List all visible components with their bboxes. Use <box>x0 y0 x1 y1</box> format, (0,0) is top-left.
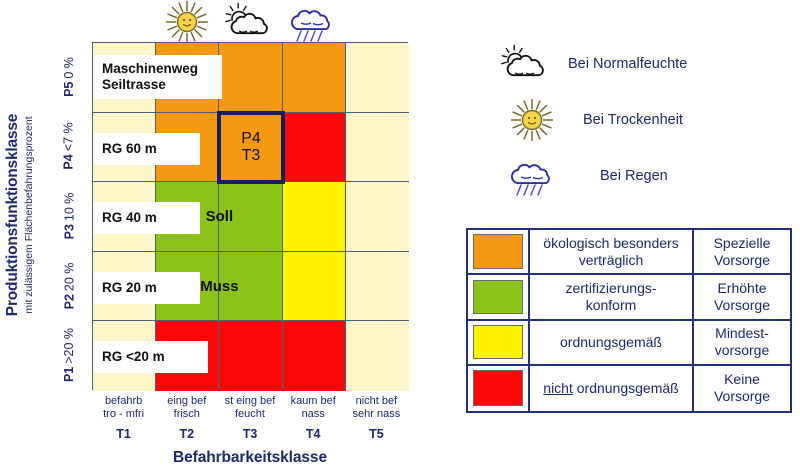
y-tick-code: P5 <box>62 81 76 96</box>
row-label-line1: RG <20 m <box>102 349 165 365</box>
matrix-cell-P5-T5 <box>346 43 409 113</box>
row-label-box-P4: RG 60 m <box>94 133 200 165</box>
color-legend-desc-line2: verträglich <box>579 252 644 268</box>
y-tick-code: P1 <box>62 367 76 382</box>
row-label-line2: Seiltrasse <box>102 77 166 93</box>
y-tick-P3: 10 %P3 <box>38 205 100 227</box>
row-label-line1: RG 40 m <box>102 210 157 226</box>
row-label-line1: RG 60 m <box>102 141 157 157</box>
y-axis-subtitle: mit zulässigem Flächenbefahrungsprozent <box>23 116 35 313</box>
highlight-line1: P4 <box>241 130 261 147</box>
x-tick-desc-line1: st eing bef <box>218 395 281 408</box>
weather-legend-row-2: Bei Regen <box>500 152 790 208</box>
x-tick-T4: kaum befnassT4 <box>282 395 345 441</box>
color-legend-description: nicht ordnungsgemäß <box>530 366 694 411</box>
color-swatch <box>473 280 523 315</box>
color-legend-row-0: ökologisch besondersverträglichSpezielle… <box>468 230 790 275</box>
x-tick-T1: befahrbtro - mfriT1 <box>92 395 155 441</box>
care-line1: Erhöhte <box>714 280 770 297</box>
color-legend-row-2: ordnungsgemäßMindest-vorsorge <box>468 321 790 366</box>
highlighted-cell-p4-t3[interactable]: P4T3 <box>217 111 284 185</box>
color-legend-description: ordnungsgemäß <box>530 321 694 364</box>
x-tick-desc-line1: eing bef <box>155 395 218 408</box>
row-label-line1: RG 20 m <box>102 280 157 296</box>
x-tick-desc-line1: nicht bef <box>345 395 408 408</box>
matrix-cell-P5-T3 <box>219 43 282 113</box>
weather-legend-row-0: Bei Normalfeuchte <box>500 40 790 96</box>
highlight-line2: T3 <box>242 147 261 164</box>
color-legend-swatch-cell <box>468 366 530 411</box>
row-label-line1: Maschinenweg <box>102 61 198 77</box>
sun-icon <box>165 0 209 44</box>
care-line2: Vorsorge <box>714 252 771 269</box>
weather-legend-label: Bei Regen <box>600 168 668 184</box>
color-legend-desc-line1: ordnungsgemäß <box>560 334 662 350</box>
color-legend-desc-line1: ordnungsgemäß <box>573 380 679 396</box>
color-swatch <box>473 234 523 269</box>
weather-legend: Bei Normalfeuchte Bei Trockenheit Bei Re… <box>500 40 790 208</box>
column-sun-behind-cloud-icon-T3 <box>224 2 276 44</box>
x-tick-code: T2 <box>155 427 218 441</box>
care-line1: Mindest- <box>715 325 769 342</box>
matrix-cell-P3-T4 <box>283 182 346 252</box>
row-label-box-P3: RG 40 m <box>94 202 200 234</box>
care-line2: Vorsorge <box>714 388 770 405</box>
x-tick-T3: st eing beffeuchtT3 <box>218 395 281 441</box>
sun-behind-cloud-icon <box>500 44 552 81</box>
x-tick-desc-line1: kaum bef <box>282 395 345 408</box>
x-tick-desc-line2: frisch <box>155 408 218 421</box>
y-tick-P4: <7 %P4 <box>38 135 100 157</box>
diagram-root: Produktionsfunktionsklasse mit zulässige… <box>0 0 800 475</box>
color-legend-description: zertifizierungs-konform <box>530 275 694 318</box>
x-tick-code: T4 <box>282 427 345 441</box>
x-tick-code: T1 <box>92 427 155 441</box>
color-legend-care-level: ErhöhteVorsorge <box>694 275 790 318</box>
color-legend-desc-line1: ökologisch besonders <box>543 235 678 251</box>
trafficability-matrix: SollMussMaschinenwegSeiltrasseRG 60 mRG … <box>92 42 408 390</box>
x-tick-desc-line2: feucht <box>218 408 281 421</box>
y-tick-code: P4 <box>62 155 76 170</box>
weather-legend-label: Bei Normalfeuchte <box>568 56 687 72</box>
x-tick-T5: nicht befsehr nassT5 <box>345 395 408 441</box>
matrix-cell-P4-T4 <box>283 113 346 183</box>
color-legend-row-3: nicht ordnungsgemäßKeineVorsorge <box>468 366 790 411</box>
weather-legend-row-1: Bei Trockenheit <box>500 96 790 152</box>
color-legend-description: ökologisch besondersverträglich <box>530 230 694 273</box>
color-legend-desc-line1: zertifizierungs- <box>565 280 656 296</box>
x-tick-code: T5 <box>345 427 408 441</box>
y-tick-percent: 10 % <box>62 193 76 222</box>
color-legend-swatch-cell <box>468 230 530 273</box>
color-legend-care-level: KeineVorsorge <box>694 366 790 411</box>
row-label-box-P5: MaschinenwegSeiltrasse <box>94 55 222 99</box>
matrix-cell-P1-T3 <box>219 321 282 391</box>
color-legend-swatch-cell <box>468 321 530 364</box>
sun-behind-cloud-icon <box>224 2 276 39</box>
matrix-cell-P3-T5 <box>346 182 409 252</box>
row-label-box-P1: RG <20 m <box>94 341 208 373</box>
color-legend-desc-line2: konform <box>586 297 637 313</box>
weather-legend-label: Bei Trockenheit <box>583 112 683 128</box>
y-tick-percent: 20 % <box>62 262 76 291</box>
rain-cloud-icon <box>508 156 558 197</box>
color-legend-care-level: SpezielleVorsorge <box>694 230 790 273</box>
color-swatch <box>473 325 523 360</box>
matrix-cell-P5-T4 <box>283 43 346 113</box>
matrix-cell-P4-T5 <box>346 113 409 183</box>
y-tick-percent: >20 % <box>62 328 76 364</box>
matrix-cell-P2-T4 <box>283 252 346 322</box>
rain-cloud-icon <box>288 2 338 43</box>
color-legend-swatch-cell <box>468 275 530 318</box>
legend-rain-cloud-icon <box>508 156 558 202</box>
color-legend-desc-prefix: nicht <box>543 380 573 396</box>
care-line2: Vorsorge <box>714 297 770 314</box>
x-tick-desc-line2: nass <box>282 408 345 421</box>
sun-icon <box>510 98 554 142</box>
legend-sun-icon <box>510 98 554 147</box>
color-legend-row-1: zertifizierungs-konformErhöhteVorsorge <box>468 275 790 320</box>
x-tick-code: T3 <box>218 427 281 441</box>
matrix-cell-P2-T5 <box>346 252 409 322</box>
legend-sun-behind-cloud-icon <box>500 44 552 86</box>
x-tick-T2: eing beffrischT2 <box>155 395 218 441</box>
x-tick-desc-line1: befahrb <box>92 395 155 408</box>
x-tick-desc-line2: sehr nass <box>345 408 408 421</box>
color-legend-care-level: Mindest-vorsorge <box>694 321 790 364</box>
x-tick-desc-line2: tro - mfri <box>92 408 155 421</box>
matrix-cell-P1-T4 <box>283 321 346 391</box>
color-swatch <box>473 370 523 406</box>
row-label-box-P2: RG 20 m <box>94 272 200 304</box>
x-axis-title: Befahrbarkeitsklasse <box>92 449 408 467</box>
care-line2: vorsorge <box>715 342 769 359</box>
y-axis-title: Produktionsfunktionsklasse <box>4 114 21 316</box>
y-tick-code: P3 <box>62 224 76 239</box>
y-tick-P1: >20 %P1 <box>38 344 100 366</box>
y-tick-code: P2 <box>62 294 76 309</box>
y-tick-P5: 0 %P5 <box>38 66 100 88</box>
matrix-cell-P1-T5 <box>346 321 409 391</box>
y-tick-percent: 0 % <box>62 57 76 79</box>
care-line1: Keine <box>714 371 770 388</box>
y-tick-percent: <7 % <box>62 123 76 152</box>
y-axis-title-area: Produktionsfunktionsklasse mit zulässige… <box>2 40 36 390</box>
y-tick-P2: 20 %P2 <box>38 275 100 297</box>
color-legend: ökologisch besondersverträglichSpezielle… <box>466 228 792 413</box>
care-line1: Spezielle <box>714 235 771 252</box>
